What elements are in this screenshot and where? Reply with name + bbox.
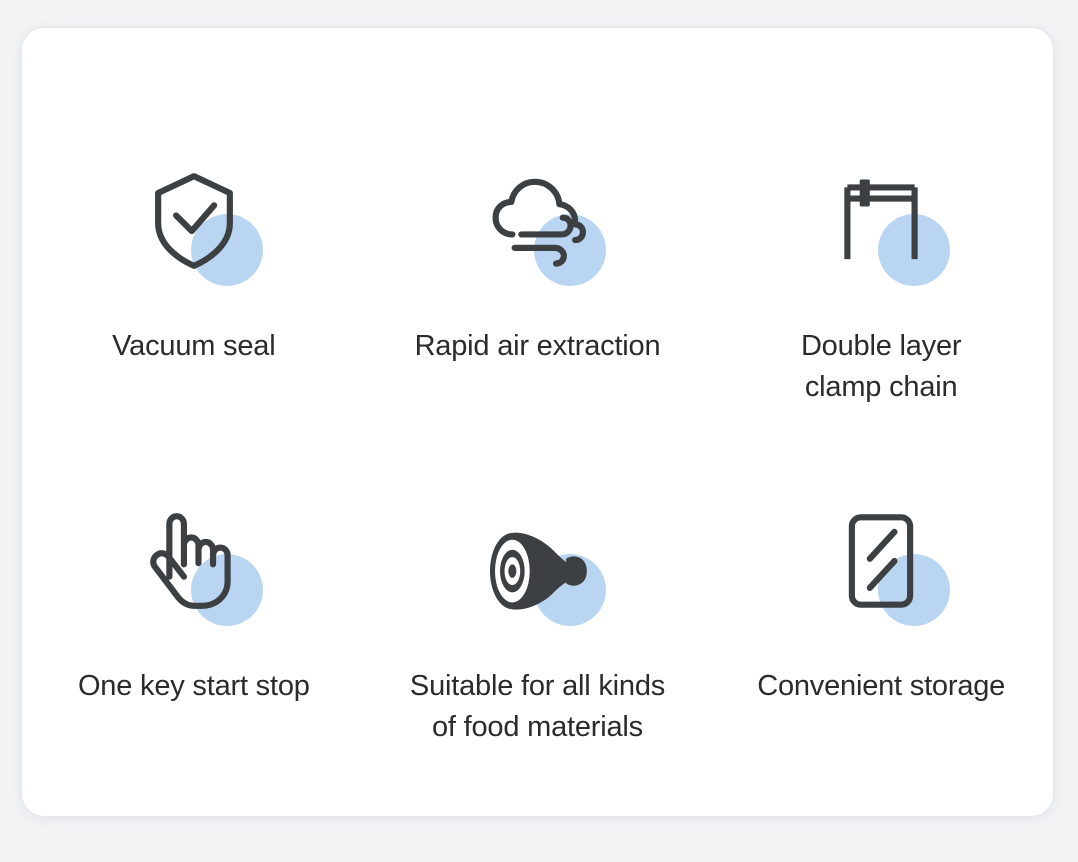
clamp-chain-icon bbox=[825, 165, 937, 277]
feature-label: Rapid air extraction bbox=[415, 326, 661, 367]
icon-wrapper bbox=[806, 146, 956, 296]
feature-label: Double layer clamp chain bbox=[801, 326, 961, 408]
icon-wrapper bbox=[119, 486, 269, 636]
page-root: Vacuum seal Rapid air extraction bbox=[0, 0, 1078, 862]
feature-item-suitable-for-food[interactable]: Suitable for all kinds of food materials bbox=[366, 480, 710, 820]
feature-label: Suitable for all kinds of food materials bbox=[410, 666, 665, 748]
feature-card: Vacuum seal Rapid air extraction bbox=[22, 28, 1053, 816]
tap-hand-icon bbox=[138, 505, 250, 617]
feature-item-rapid-air-extraction[interactable]: Rapid air extraction bbox=[366, 140, 710, 480]
feature-item-one-key-start-stop[interactable]: One key start stop bbox=[22, 480, 366, 820]
icon-wrapper bbox=[462, 486, 612, 636]
feature-label: Vacuum seal bbox=[112, 326, 275, 367]
feature-label: Convenient storage bbox=[757, 666, 1005, 707]
feature-label: One key start stop bbox=[78, 666, 310, 707]
feature-item-double-layer-clamp-chain[interactable]: Double layer clamp chain bbox=[709, 140, 1053, 480]
icon-wrapper bbox=[462, 146, 612, 296]
vacuum-bag-icon bbox=[825, 505, 937, 617]
feature-grid: Vacuum seal Rapid air extraction bbox=[22, 140, 1053, 820]
shield-check-icon bbox=[138, 165, 250, 277]
feature-item-convenient-storage[interactable]: Convenient storage bbox=[709, 480, 1053, 820]
icon-wrapper bbox=[806, 486, 956, 636]
cloud-wind-icon bbox=[481, 165, 593, 277]
feature-item-vacuum-seal[interactable]: Vacuum seal bbox=[22, 140, 366, 480]
icon-wrapper bbox=[119, 146, 269, 296]
ham-meat-icon bbox=[481, 505, 593, 617]
